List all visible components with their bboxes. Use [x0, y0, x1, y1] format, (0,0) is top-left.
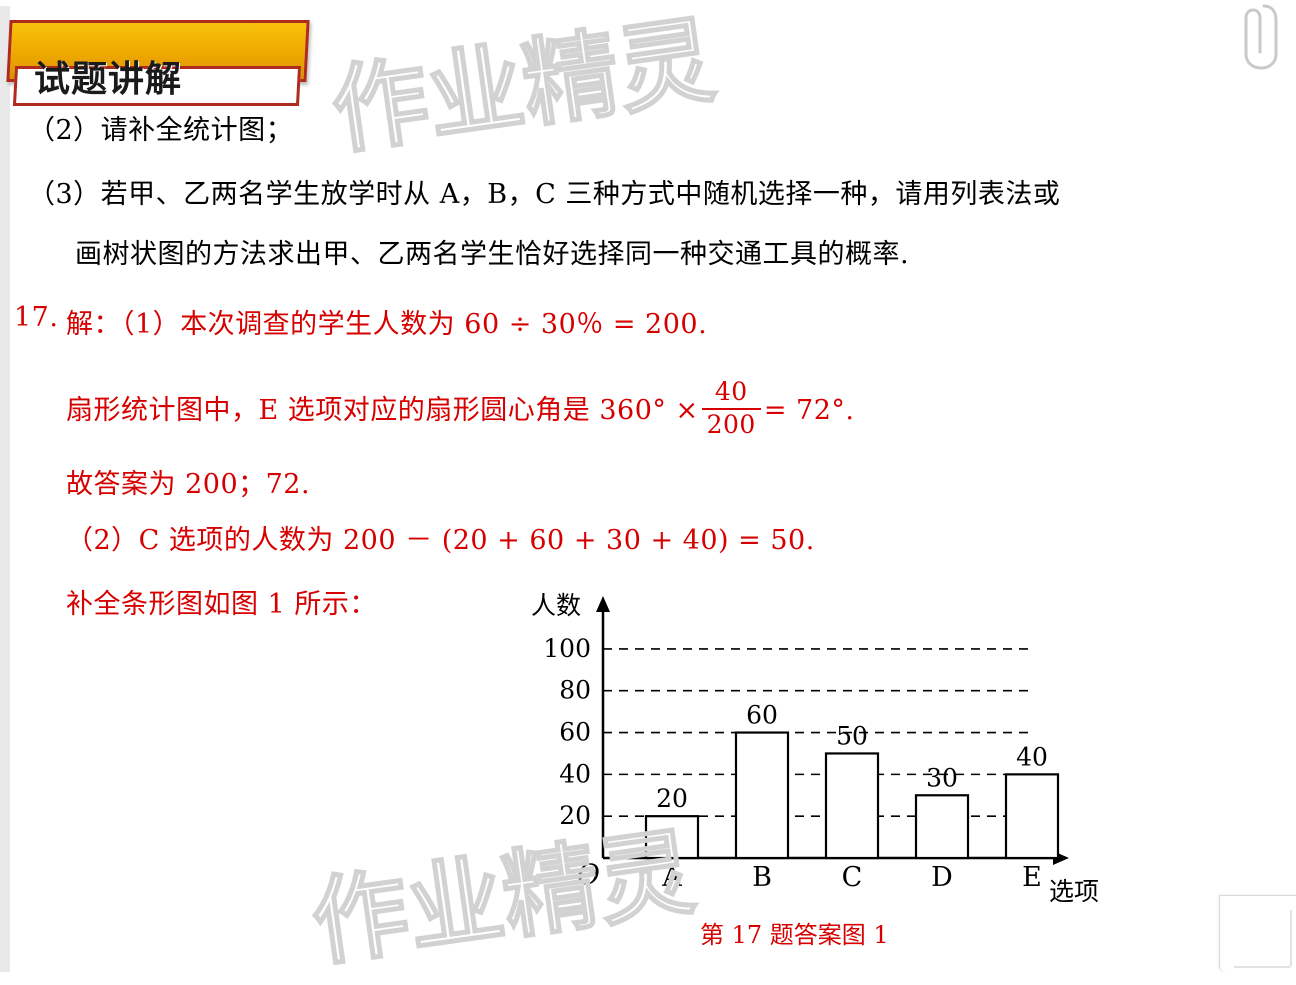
chart-caption: 第 17 题答案图 1 — [700, 915, 889, 950]
fraction-denominator: 200 — [702, 410, 761, 440]
answer-line-3: 故答案为 200；72. — [66, 462, 310, 501]
paperclip-icon — [1234, 2, 1280, 72]
x-axis-category-label-E: E — [1022, 862, 1042, 893]
answer-line-2-part-a: 扇形统计图中，E 选项对应的扇形圆心角是 360° × — [66, 395, 699, 426]
bar-B — [736, 733, 788, 858]
answer-line-1-text: 本次调查的学生人数为 60 ÷ 30％ = 200. — [180, 309, 707, 340]
bar-value-label-D: 30 — [926, 763, 958, 792]
answer-line-4: （2）C 选项的人数为 200 － (20 + 60 + 30 + 40) = … — [66, 518, 815, 557]
x-axis-title: 选项 — [1049, 877, 1099, 906]
y-axis-title: 人数 — [531, 591, 581, 620]
x-axis-category-label-B: B — [752, 862, 772, 893]
answer-line-2: 扇形统计图中，E 选项对应的扇形圆心角是 360° ×40200= 72°. — [66, 378, 855, 440]
origin-label: O — [577, 858, 600, 891]
bar-D — [916, 795, 968, 858]
page-left-edge — [0, 0, 10, 972]
y-axis-tick-label: 40 — [559, 759, 591, 788]
bar-value-label-E: 40 — [1016, 742, 1048, 771]
y-axis-tick-label: 20 — [559, 801, 591, 830]
bar-value-label-B: 60 — [746, 701, 778, 730]
watermark-top: 作业精灵 — [322, 0, 722, 173]
x-axis-category-label-C: C — [842, 862, 863, 893]
header-banner: 试题讲解 — [8, 20, 328, 90]
question-line-2: （2）请补全统计图； — [28, 108, 293, 147]
answer-number: 17. — [14, 302, 58, 333]
answer-line-5: 补全条形图如图 1 所示： — [66, 582, 377, 621]
bar-A — [646, 816, 698, 858]
page-top-edge — [0, 0, 1296, 6]
x-axis-category-label-A: A — [661, 862, 682, 893]
banner-title: 试题讲解 — [34, 50, 182, 102]
y-axis-tick-label: 100 — [543, 634, 591, 663]
bar-value-label-C: 50 — [836, 721, 868, 750]
fraction-40-over-200: 40200 — [702, 378, 761, 440]
question-line-3: （3）若甲、乙两名学生放学时从 A，B，C 三种方式中随机选择一种，请用列表法或 — [28, 172, 1060, 211]
bar-C — [826, 753, 878, 858]
bar-chart: 20406080100人数选项O20A60B50C30D40E — [515, 580, 1115, 910]
question-line-3b: 画树状图的方法求出甲、乙两名学生恰好选择同一种交通工具的概率. — [75, 232, 909, 271]
answer-line-1: 解：（1）本次调查的学生人数为 60 ÷ 30％ = 200. — [66, 302, 707, 341]
worksheet-page: 试题讲解 作业精灵 （2）请补全统计图； （3）若甲、乙两名学生放学时从 A，B… — [0, 0, 1296, 972]
y-axis-tick-label: 80 — [559, 676, 591, 705]
answer-line-2-part-b: = 72°. — [764, 395, 855, 426]
page-fold-corner — [1219, 895, 1296, 972]
x-axis-category-label-D: D — [931, 862, 953, 893]
fraction-numerator: 40 — [702, 378, 761, 410]
y-axis-tick-label: 60 — [559, 718, 591, 747]
bar-E — [1006, 774, 1058, 858]
bar-value-label-A: 20 — [656, 784, 688, 813]
answer-line-1-label: 解：（1） — [66, 309, 180, 340]
